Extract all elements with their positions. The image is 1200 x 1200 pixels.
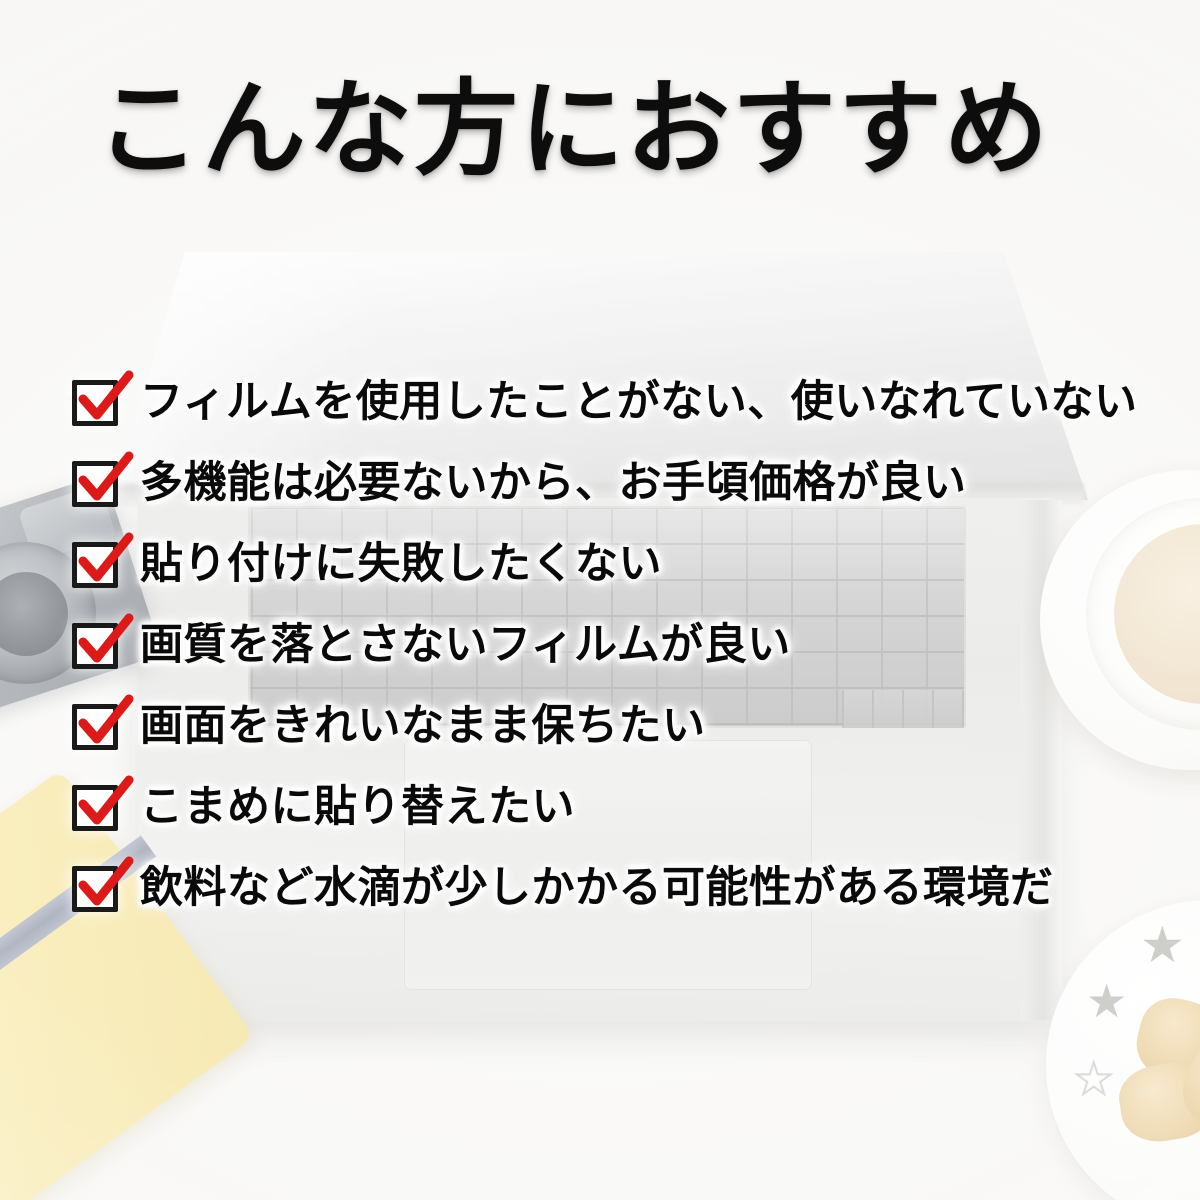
checklist-item-label: 貼り付けに失敗したくない [140,542,662,587]
checklist-item-label: こまめに貼り替えたい [140,785,575,830]
checkbox-checked-icon [72,461,118,507]
checklist-item-label: 画面をきれいなまま保ちたい [140,704,706,749]
check-mark-icon [73,531,135,593]
checklist-item-label: フィルムを使用したことがない、使いなれていない [140,380,1138,425]
check-mark-icon [73,369,135,431]
checklist-item: 画質を落とさないフィルムが良い [72,605,1162,686]
checklist-item: 貼り付けに失敗したくない [72,524,1162,605]
checkbox-checked-icon [72,704,118,750]
checklist-item-label: 多機能は必要ないから、お手頃価格が良い [140,461,967,506]
promo-graphic: ★ ★ ★ こんな方におすすめ フィルムを使用したことがない、使いなれていない [0,0,1200,1200]
checkbox-checked-icon [72,542,118,588]
checklist-item: 多機能は必要ないから、お手頃価格が良い [72,443,1162,524]
check-mark-icon [73,693,135,755]
check-mark-icon [73,774,135,836]
checklist: フィルムを使用したことがない、使いなれていない 多機能は必要ないから、お手頃価格… [72,362,1162,929]
check-mark-icon [73,612,135,674]
checkbox-checked-icon [72,623,118,669]
check-mark-icon [73,855,135,917]
checklist-item-label: 飲料など水滴が少しかかる可能性がある環境だ [140,866,1054,911]
checkbox-checked-icon [72,380,118,426]
checklist-item: こまめに貼り替えたい [72,767,1162,848]
checkbox-checked-icon [72,785,118,831]
content-layer: こんな方におすすめ フィルムを使用したことがない、使いなれていない [0,0,1200,1200]
page-title: こんな方におすすめ [96,72,1116,188]
checklist-item-label: 画質を落とさないフィルムが良い [140,623,791,668]
checklist-item: 飲料など水滴が少しかかる可能性がある環境だ [72,848,1162,929]
checklist-item: フィルムを使用したことがない、使いなれていない [72,362,1162,443]
checklist-item: 画面をきれいなまま保ちたい [72,686,1162,767]
check-mark-icon [73,450,135,512]
checkbox-checked-icon [72,866,118,912]
